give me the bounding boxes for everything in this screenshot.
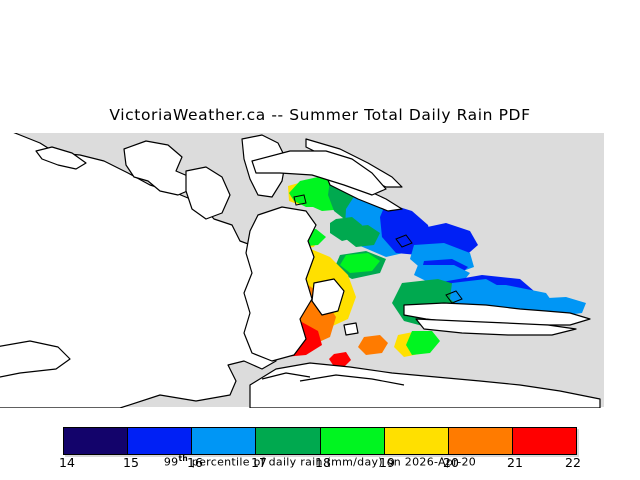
colorbar-band-20-21[interactable] [449, 428, 513, 454]
colorbar-band-17-18[interactable] [256, 428, 320, 454]
weather-map-figure: VictoriaWeather.ca -- Summer Total Daily… [0, 0, 640, 480]
colorbar-caption: 99th percentile of daily rain (mm/day) o… [0, 454, 640, 469]
outside-domain-right [604, 133, 640, 408]
map-svg [0, 133, 640, 408]
colorbar[interactable] [63, 427, 577, 455]
colorbar-band-14-15[interactable] [64, 428, 128, 454]
colorbar-block: 14 15 16 17 18 19 20 21 22 [0, 424, 640, 480]
colorbar-band-19-20[interactable] [385, 428, 449, 454]
colorbar-band-21-22[interactable] [513, 428, 576, 454]
land-small-triangle [344, 323, 358, 335]
caption-rest: percentile of daily rain (mm/day) on 202… [188, 456, 476, 469]
colorbar-band-15-16[interactable] [128, 428, 192, 454]
map-canvas[interactable] [0, 133, 640, 408]
colorbar-band-18-19[interactable] [321, 428, 385, 454]
land-central-peninsula [244, 207, 316, 361]
caption-superscript: th [178, 454, 188, 463]
caption-prefix: 99 [164, 456, 179, 469]
colorbar-band-16-17[interactable] [192, 428, 256, 454]
page-title: VictoriaWeather.ca -- Summer Total Daily… [0, 106, 640, 124]
